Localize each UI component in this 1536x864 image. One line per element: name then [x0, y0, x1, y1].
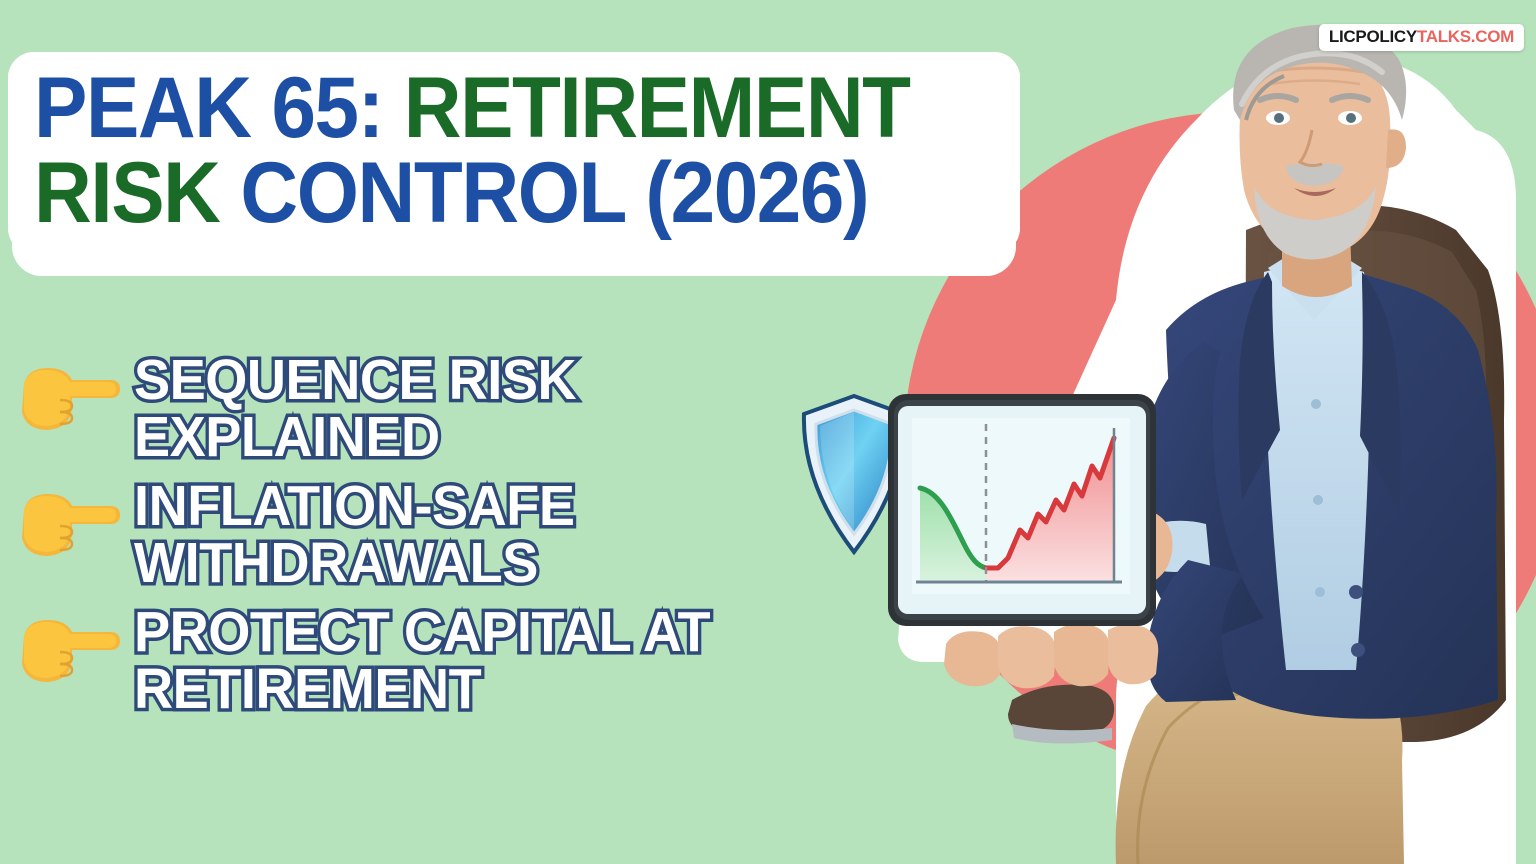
tablet-chart	[886, 392, 1158, 628]
bullet-1-line-2: EXPLAINED	[134, 409, 576, 466]
tablet-device	[886, 392, 1158, 628]
page-title: PEAK 65: RETIREMENT RISK CONTROL (2026)	[8, 52, 1020, 254]
list-item: INFLATION-SAFE WITHDRAWALS	[14, 478, 844, 592]
pointing-hand-right-icon	[14, 484, 122, 562]
licpolicytalks-logo[interactable]: LICPOLICYTALKS.COM	[1319, 24, 1524, 51]
bullet-2-line-2: WITHDRAWALS	[134, 535, 575, 592]
logo-part-one: LICPOLICY	[1329, 27, 1417, 46]
title-seg-retirement: RETIREMENT	[404, 60, 910, 156]
bullet-list: SEQUENCE RISK EXPLAINED INFLATION-SAFE W…	[14, 352, 844, 730]
title-seg-peak65: PEAK 65:	[34, 60, 383, 156]
title-line-2: RISK CONTROL (2026)	[34, 151, 931, 236]
bullet-text-1: SEQUENCE RISK EXPLAINED	[134, 352, 576, 466]
title-line-1: PEAK 65: RETIREMENT	[34, 66, 931, 151]
bullet-3-line-2: RETIREMENT	[134, 661, 710, 718]
logo-part-two: TALKS.COM	[1417, 27, 1514, 46]
bullet-2-line-1: INFLATION-SAFE	[134, 478, 575, 535]
bullet-text-3: PROTECT CAPITAL AT RETIREMENT	[134, 604, 710, 718]
bullet-text-2: INFLATION-SAFE WITHDRAWALS	[134, 478, 575, 592]
thumbnail-canvas: PEAK 65: RETIREMENT RISK CONTROL (2026) …	[0, 0, 1536, 864]
list-item: SEQUENCE RISK EXPLAINED	[14, 352, 844, 466]
title-seg-control: CONTROL (2026)	[240, 145, 868, 241]
pointing-hand-right-icon	[14, 610, 122, 688]
bullet-3-line-1: PROTECT CAPITAL AT	[134, 604, 710, 661]
bullet-1-line-1: SEQUENCE RISK	[134, 352, 576, 409]
pointing-hand-right-icon	[14, 358, 122, 436]
list-item: PROTECT CAPITAL AT RETIREMENT	[14, 604, 844, 718]
title-seg-risk: RISK	[34, 145, 220, 241]
